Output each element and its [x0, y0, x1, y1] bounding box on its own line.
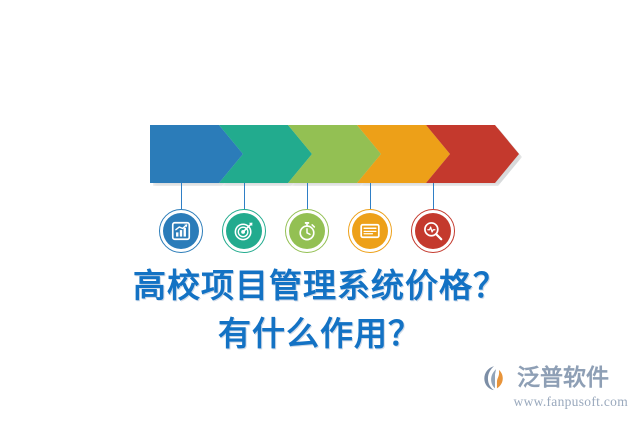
bar-chart-icon [163, 213, 199, 249]
brand-logo[interactable]: 泛普软件 www.fanpusoft.com [483, 363, 628, 413]
process-step-2-icon-node[interactable] [222, 209, 266, 253]
page-title-line-1: 高校项目管理系统价格？ [0, 262, 640, 310]
process-arrow-band [150, 125, 495, 183]
process-step-5-icon-node[interactable] [411, 209, 455, 253]
process-step-4-icon-node[interactable] [348, 209, 392, 253]
connector-line-3 [307, 183, 308, 209]
poster-canvas: 高校项目管理系统价格？ 有什么作用？ 泛普软件 www.fanpusoft.co… [0, 0, 640, 427]
search-analysis-icon [415, 213, 451, 249]
connector-line-5 [433, 183, 434, 209]
target-dart-icon [226, 213, 262, 249]
connector-line-4 [370, 183, 371, 209]
connector-line-1 [181, 183, 182, 209]
presentation-icon [352, 213, 388, 249]
brand-url: www.fanpusoft.com [483, 394, 628, 410]
brand-name: 泛普软件 [517, 364, 609, 392]
process-step-1-icon-node[interactable] [159, 209, 203, 253]
page-title-line-2: 有什么作用？ [0, 310, 640, 358]
fanpu-logo-icon [483, 364, 513, 392]
process-step-3-icon-node[interactable] [285, 209, 329, 253]
page-title: 高校项目管理系统价格？ 有什么作用？ [0, 262, 640, 358]
stopwatch-icon [289, 213, 325, 249]
brand-row: 泛普软件 [483, 363, 628, 393]
process-step-5-arrow[interactable] [426, 125, 519, 183]
connector-line-2 [244, 183, 245, 209]
